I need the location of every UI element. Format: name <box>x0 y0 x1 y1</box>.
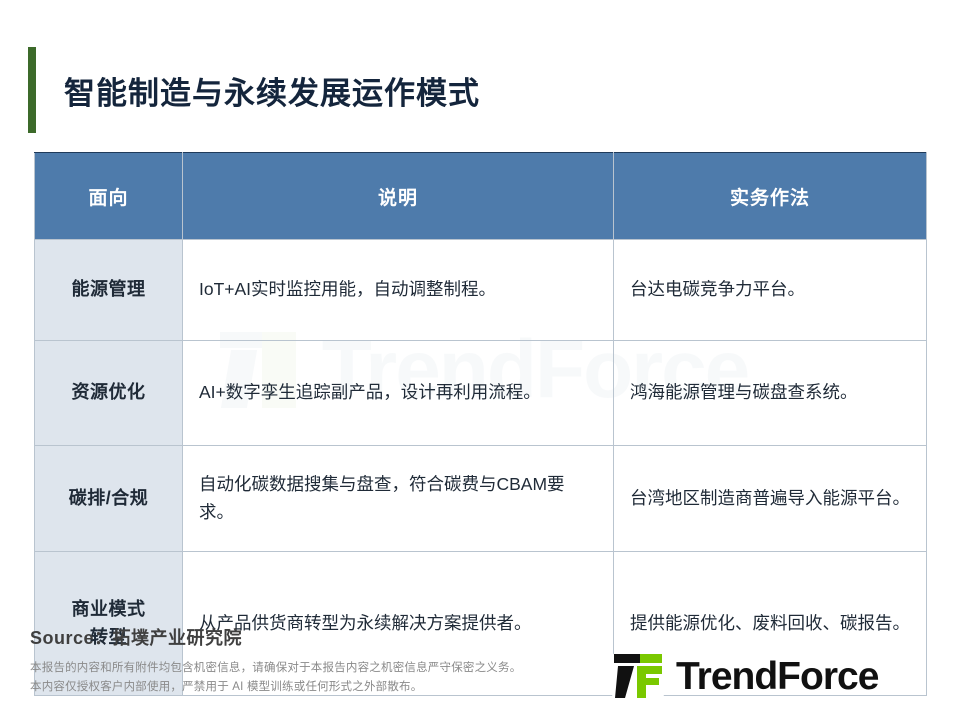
cell-description: 自动化碳数据搜集与盘查，符合碳费与CBAM要求。 <box>183 446 614 552</box>
cell-practice: 鸿海能源管理与碳盘查系统。 <box>614 341 927 446</box>
title-accent-bar <box>28 47 36 133</box>
operating-model-table: 面向 说明 实务作法 能源管理 IoT+AI实时监控用能，自动调整制程。 台达电… <box>34 152 927 696</box>
cell-practice: 台达电碳竞争力平台。 <box>614 240 927 341</box>
title-block: 智能制造与永续发展运作模式 <box>28 47 480 133</box>
column-header-aspect: 面向 <box>35 153 183 240</box>
table-row: 资源优化 AI+数字孪生追踪副产品，设计再利用流程。 鸿海能源管理与碳盘查系统。 <box>35 341 927 446</box>
cell-practice: 台湾地区制造商普遍导入能源平台。 <box>614 446 927 552</box>
table-row: 能源管理 IoT+AI实时监控用能，自动调整制程。 台达电碳竞争力平台。 <box>35 240 927 341</box>
cell-aspect: 资源优化 <box>35 341 183 446</box>
page-title: 智能制造与永续发展运作模式 <box>64 68 480 113</box>
column-header-description: 说明 <box>183 153 614 240</box>
table-row: 碳排/合规 自动化碳数据搜集与盘查，符合碳费与CBAM要求。 台湾地区制造商普遍… <box>35 446 927 552</box>
cell-aspect: 碳排/合规 <box>35 446 183 552</box>
cell-description: AI+数字孪生追踪副产品，设计再利用流程。 <box>183 341 614 446</box>
cell-description: IoT+AI实时监控用能，自动调整制程。 <box>183 240 614 341</box>
trendforce-logo-mark-icon <box>612 652 664 700</box>
column-header-practice: 实务作法 <box>614 153 927 240</box>
trendforce-logo: TrendForce <box>612 648 930 704</box>
source-label: Source：拓墣产业研究院 <box>30 624 930 650</box>
cell-aspect: 能源管理 <box>35 240 183 341</box>
trendforce-wordmark: TrendForce <box>676 657 878 696</box>
table-header: 面向 说明 实务作法 <box>35 153 927 240</box>
table-header-row: 面向 说明 实务作法 <box>35 153 927 240</box>
